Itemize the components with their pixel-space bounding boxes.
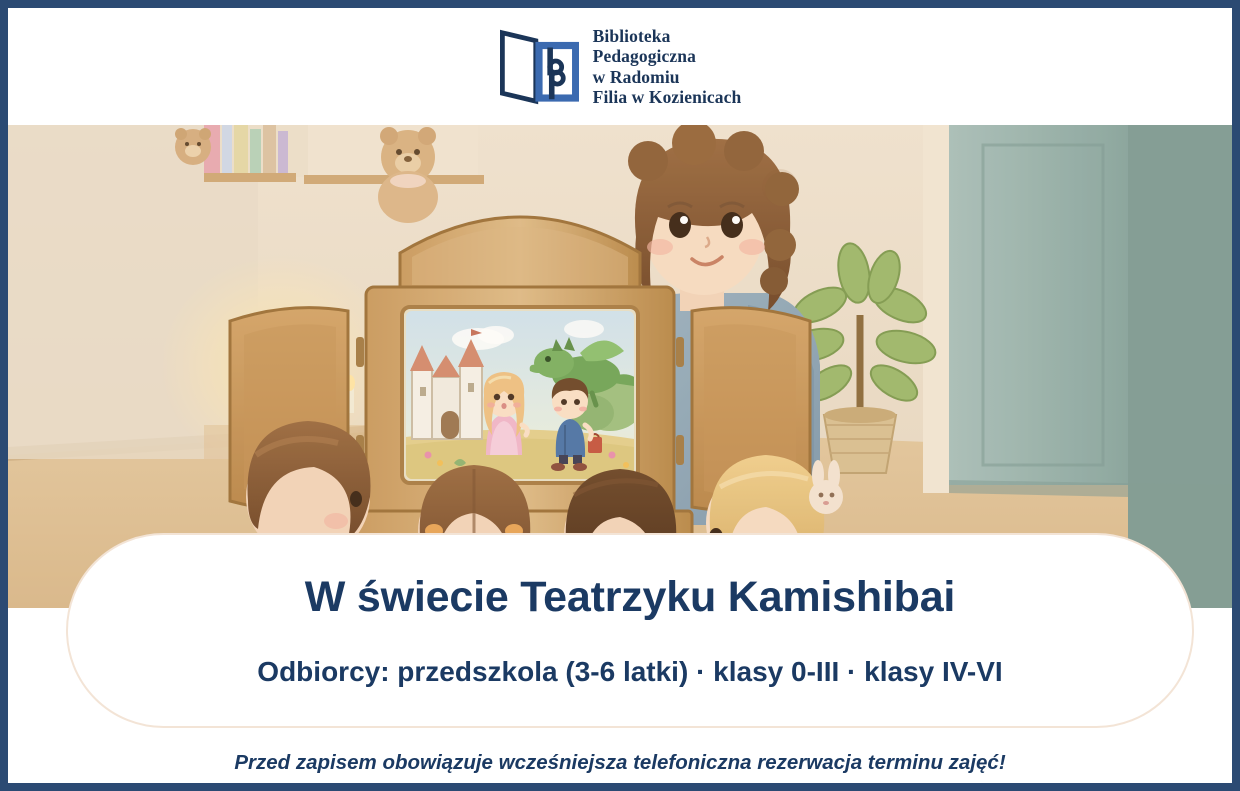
info-card: W świecie Teatrzyku Kamishibai Odbiorcy:… <box>66 533 1194 728</box>
reservation-note: Przed zapisem obowiązuje wcześniejsza te… <box>234 751 1005 775</box>
library-logo-lockup: Biblioteka Pedagogiczna w Radomiu Filia … <box>499 26 742 107</box>
footer-note-area: Przed zapisem obowiązuje wcześniejsza te… <box>16 735 1224 791</box>
poster-root: Biblioteka Pedagogiczna w Radomiu Filia … <box>0 0 1240 791</box>
page-title: W świecie Teatrzyku Kamishibai <box>305 573 955 622</box>
library-name: Biblioteka Pedagogiczna w Radomiu Filia … <box>593 26 742 107</box>
poster-header: Biblioteka Pedagogiczna w Radomiu Filia … <box>8 8 1232 125</box>
audience-subtitle: Odbiorcy: przedszkola (3-6 latki) · klas… <box>257 656 1002 688</box>
open-book-door-bp-logo-icon <box>499 28 579 106</box>
